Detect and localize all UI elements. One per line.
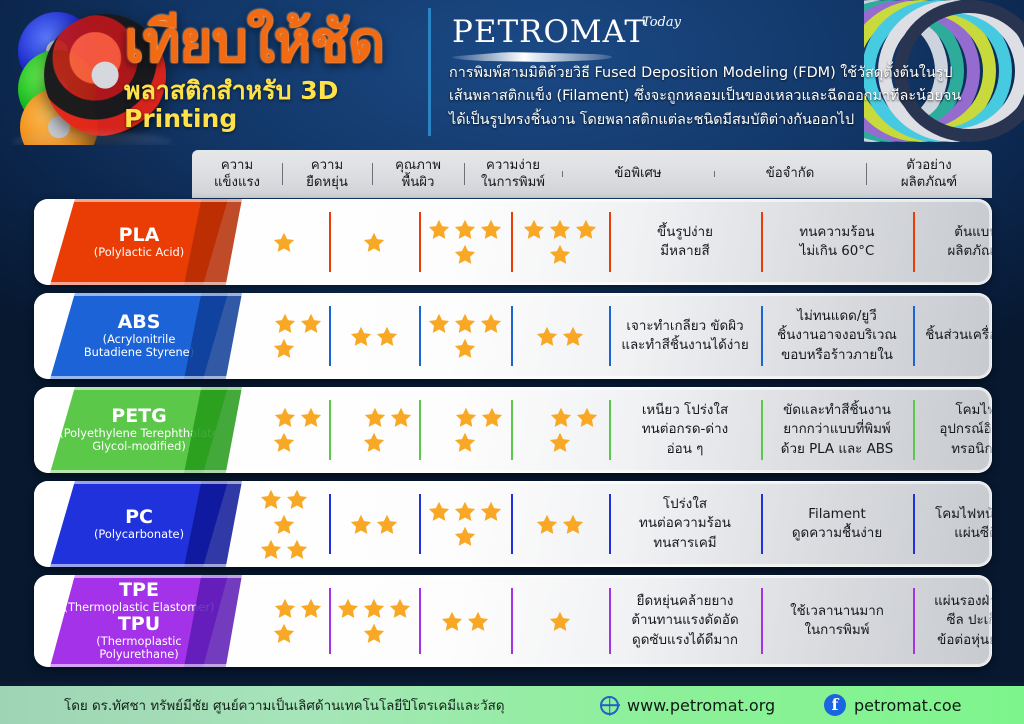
star-icon [271, 230, 297, 255]
brand-logo: PETROMATToday [452, 14, 685, 50]
star-icon [272, 405, 298, 430]
cell-limitation: ทนความร้อน ไม่เกิน 60°C [761, 199, 913, 285]
facebook-icon: f [824, 694, 846, 716]
footer-website-label: www.petromat.org [627, 696, 775, 715]
row-cells: เจาะทำเกลียว ขัดผิว และทำสีชิ้นงานได้ง่า… [239, 293, 992, 379]
star-rating [269, 230, 299, 255]
star-rating [423, 311, 507, 361]
header-banner: เทียบให้ชัด พลาสติกสำหรับ 3D Printing PE… [0, 0, 1024, 145]
cell-strength [239, 199, 329, 285]
star-icon [574, 405, 600, 430]
star-icon [452, 499, 478, 524]
cell-special: ขึ้นรูปง่าย มีหลายสี [609, 199, 761, 285]
globe-icon [600, 696, 619, 715]
column-header-7: ตัวอย่าง ผลิตภัณฑ์ [866, 157, 992, 191]
star-icon [272, 311, 298, 336]
star-icon [573, 217, 599, 242]
table-row: TPE(Thermoplastic Elastomer)TPU(Thermopl… [34, 575, 992, 667]
table-row: PC(Polycarbonate)โปร่งใส ทนต่อความร้อน ท… [34, 481, 992, 567]
star-rating [333, 405, 415, 455]
footer-bar: โดย ดร.ทัศชา ทรัพย์มีชัย ศูนย์ความเป็นเล… [0, 686, 1024, 724]
material-fullname-2: (Thermoplastic Polyurethane) [96, 635, 181, 662]
star-icon [534, 512, 560, 537]
star-icon [465, 609, 491, 634]
star-icon [374, 512, 400, 537]
star-icon [374, 324, 400, 349]
brand-swoosh-icon [452, 52, 612, 62]
star-icon [452, 524, 478, 549]
star-icon [258, 537, 284, 562]
star-icon [284, 537, 310, 562]
cell-strength [239, 481, 329, 567]
cell-strength [239, 293, 329, 379]
page-subtitle: พลาสติกสำหรับ 3D Printing [124, 77, 424, 132]
star-icon [547, 217, 573, 242]
star-icon [361, 430, 387, 455]
star-icon [272, 596, 298, 621]
star-icon [452, 430, 478, 455]
star-icon [271, 621, 297, 646]
star-icon [452, 311, 478, 336]
row-cells: โปร่งใส ทนต่อความร้อน ทนสารเคมีFilament … [239, 481, 992, 567]
cell-products: โคมไฟหน้ารถ แผ่นซีดี [913, 481, 992, 567]
material-name: PLA [119, 225, 160, 246]
column-header-3: คุณภาพ พื้นผิว [372, 157, 464, 191]
material-name: PC [125, 507, 153, 528]
brand-superscript: Today [642, 15, 681, 30]
star-icon [426, 311, 452, 336]
footer-facebook-label: petromat.coe [854, 696, 961, 715]
material-fullname: (Polylactic Acid) [94, 246, 184, 259]
row-cells: ขึ้นรูปง่าย มีหลายสีทนความร้อน ไม่เกิน 6… [239, 199, 992, 285]
material-fullname: (Polycarbonate) [94, 528, 184, 541]
star-icon [452, 217, 478, 242]
star-icon [452, 336, 478, 361]
star-icon [534, 324, 560, 349]
header-divider [428, 8, 431, 136]
column-header-1: ความ แข็งแรง [192, 157, 282, 191]
star-icon [547, 609, 573, 634]
star-icon [478, 499, 504, 524]
star-rating [243, 405, 325, 455]
cell-surface [419, 199, 511, 285]
cell-limitation: ใช้เวลานานมาก ในการพิมพ์ [761, 575, 913, 667]
star-icon [284, 487, 310, 512]
star-rating [342, 324, 406, 349]
star-icon [478, 311, 504, 336]
star-icon [298, 311, 324, 336]
cell-special: ยืดหยุ่นคล้ายยาง ต้านทานแรงดัดอัด ดูดซับ… [609, 575, 761, 667]
star-rating [342, 512, 406, 537]
cell-surface [419, 481, 511, 567]
star-rating [518, 405, 602, 455]
star-icon [452, 242, 478, 267]
table-row: ABS(Acrylonitrile Butadiene Styrene)เจาะ… [34, 293, 992, 379]
cell-flexibility [329, 575, 419, 667]
row-cells: ยืดหยุ่นคล้ายยาง ต้านทานแรงดัดอัด ดูดซับ… [239, 575, 992, 667]
star-icon [361, 621, 387, 646]
star-rating [433, 609, 497, 634]
star-icon [298, 596, 324, 621]
cell-surface [419, 387, 511, 473]
title-block: เทียบให้ชัด พลาสติกสำหรับ 3D Printing [124, 14, 424, 132]
material-name: ABS [118, 312, 161, 333]
column-header-4: ความง่าย ในการพิมพ์ [464, 157, 562, 191]
star-rating [528, 324, 592, 349]
star-icon [271, 336, 297, 361]
cell-flexibility [329, 481, 419, 567]
cell-special: เจาะทำเกลียว ขัดผิว และทำสีชิ้นงานได้ง่า… [609, 293, 761, 379]
star-rating [333, 596, 415, 646]
column-header-6: ข้อจำกัด [714, 165, 866, 182]
header-description: การพิมพ์สามมิติด้วยวิธี Fused Deposition… [449, 62, 969, 132]
cell-surface [419, 293, 511, 379]
spool-reflection [12, 132, 172, 145]
table-row: PLA(Polylactic Acid)ขึ้นรูปง่าย มีหลายสี… [34, 199, 992, 285]
star-icon [426, 217, 452, 242]
star-rating [545, 609, 575, 634]
star-icon [478, 217, 504, 242]
star-icon [258, 487, 284, 512]
cell-flexibility [329, 387, 419, 473]
cell-products: แผ่นรองฝ่าเท้า ซีล ปะเก็น ข้อต่อหุ่นยนต์ [913, 575, 992, 667]
cell-limitation: ขัดและทำสีชิ้นงาน ยากกว่าแบบที่พิมพ์ ด้ว… [761, 387, 913, 473]
star-icon [361, 596, 387, 621]
star-rating [423, 405, 507, 455]
star-icon [271, 512, 297, 537]
cell-special: โปร่งใส ทนต่อความร้อน ทนสารเคมี [609, 481, 761, 567]
material-fullname: (Thermoplastic Elastomer) [64, 601, 215, 614]
cell-products: โคมไฟ อุปกรณ์อิเล็ก ทรอนิกส์ [913, 387, 992, 473]
star-rating [243, 596, 325, 646]
star-icon [348, 512, 374, 537]
material-name: PETG [111, 406, 166, 427]
cell-products: ชิ้นส่วนเครื่องจักร [913, 293, 992, 379]
star-icon [439, 609, 465, 634]
star-rating [518, 217, 602, 267]
material-name: TPE [119, 580, 159, 601]
star-icon [479, 405, 505, 430]
column-header-2: ความ ยืดหยุ่น [282, 157, 372, 191]
star-rating [243, 311, 325, 361]
table-column-headers: ความ แข็งแรงความ ยืดหยุ่นคุณภาพ พื้นผิวค… [192, 150, 992, 198]
footer-website[interactable]: www.petromat.org [600, 696, 775, 715]
cell-strength [239, 575, 329, 667]
star-icon [271, 430, 297, 455]
star-icon [547, 430, 573, 455]
star-icon [361, 230, 387, 255]
cell-limitation: Filament ดูดความชื้นง่าย [761, 481, 913, 567]
material-name-2: TPU [118, 614, 160, 635]
column-header-5: ข้อพิเศษ [562, 165, 714, 182]
star-icon [388, 405, 414, 430]
brand-name: PETROMAT [452, 14, 646, 50]
star-rating [423, 499, 507, 549]
cell-ease [511, 293, 609, 379]
star-icon [453, 405, 479, 430]
cell-special: เหนียว โปร่งใส ทนต่อกรด-ด่าง อ่อน ๆ [609, 387, 761, 473]
star-icon [362, 405, 388, 430]
cell-strength [239, 387, 329, 473]
cell-limitation: ไม่ทนแดด/ยูวี ชิ้นงานอาจงอบริเวณ ขอบหรือ… [761, 293, 913, 379]
material-fullname: (Acrylonitrile Butadiene Styrene) [84, 333, 194, 360]
star-rating [423, 217, 507, 267]
star-icon [560, 324, 586, 349]
table-row: PETG(Polyethylene Terephthalate Glycol-m… [34, 387, 992, 473]
cell-flexibility [329, 293, 419, 379]
star-icon [348, 324, 374, 349]
cell-ease [511, 387, 609, 473]
cell-flexibility [329, 199, 419, 285]
star-icon [521, 217, 547, 242]
cell-ease [511, 199, 609, 285]
star-icon [426, 499, 452, 524]
page-title: เทียบให้ชัด [124, 14, 424, 71]
star-rating [528, 512, 592, 537]
infographic-page: เทียบให้ชัด พลาสติกสำหรับ 3D Printing PE… [0, 0, 1024, 724]
star-icon [547, 242, 573, 267]
cell-products: ต้นแบบ ผลิตภัณฑ์ [913, 199, 992, 285]
star-icon [548, 405, 574, 430]
footer-facebook[interactable]: f petromat.coe [824, 694, 961, 716]
star-rating [243, 487, 325, 562]
cell-surface [419, 575, 511, 667]
cell-ease [511, 481, 609, 567]
row-cells: เหนียว โปร่งใส ทนต่อกรด-ด่าง อ่อน ๆขัดแล… [239, 387, 992, 473]
star-icon [387, 596, 413, 621]
cell-ease [511, 575, 609, 667]
star-icon [560, 512, 586, 537]
star-icon [335, 596, 361, 621]
star-rating [359, 230, 389, 255]
star-icon [298, 405, 324, 430]
footer-credit: โดย ดร.ทัศชา ทรัพย์มีชัย ศูนย์ความเป็นเล… [64, 695, 505, 716]
